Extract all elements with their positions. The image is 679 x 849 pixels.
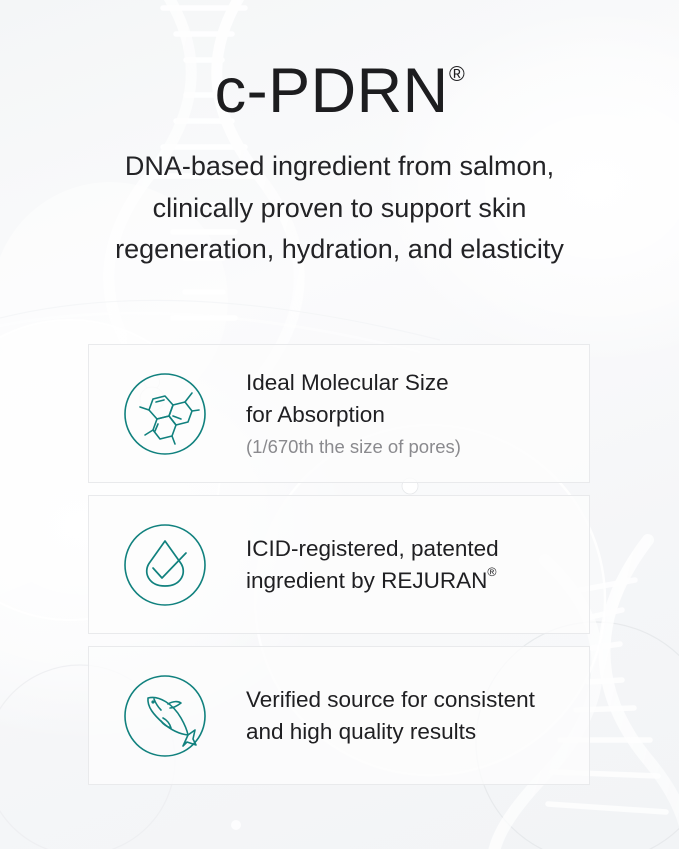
heading-line-2-text: ingredient by REJURAN: [246, 568, 487, 593]
feature-card-subtext: (1/670th the size of pores): [246, 435, 589, 460]
feature-card-list: Ideal Molecular Size for Absorption (1/6…: [88, 344, 590, 785]
feature-card-text: ICID-registered, patented ingredient by …: [246, 533, 589, 597]
registered-trademark-symbol: ®: [449, 62, 465, 86]
feature-card-heading: ICID-registered, patented ingredient by …: [246, 533, 589, 597]
page-subtitle: DNA-based ingredient from salmon, clinic…: [0, 124, 679, 271]
molecule-icon: [123, 372, 207, 456]
heading-line-2: and high quality results: [246, 716, 589, 748]
feature-card-heading: Verified source for consistent and high …: [246, 684, 589, 748]
subtitle-line-2: clinically proven to support skin: [0, 188, 679, 230]
fish-icon: [123, 674, 207, 758]
heading-line-1: Verified source for consistent: [246, 684, 589, 716]
heading-line-1: Ideal Molecular Size: [246, 367, 589, 399]
registered-trademark-symbol: ®: [487, 565, 496, 579]
heading-line-2: for Absorption: [246, 399, 589, 431]
heading-line-2: ingredient by REJURAN®: [246, 565, 589, 597]
subtitle-line-3: regeneration, hydration, and elasticity: [0, 229, 679, 271]
feature-card-text: Verified source for consistent and high …: [246, 684, 589, 748]
page-title: c-PDRN®: [0, 0, 679, 124]
feature-card-verified-source: Verified source for consistent and high …: [88, 646, 590, 785]
heading-line-1: ICID-registered, patented: [246, 533, 589, 565]
page-title-text: c-PDRN: [215, 56, 449, 126]
feature-card-heading: Ideal Molecular Size for Absorption: [246, 367, 589, 431]
subtitle-line-1: DNA-based ingredient from salmon,: [0, 146, 679, 188]
page-root: c-PDRN® DNA-based ingredient from salmon…: [0, 0, 679, 849]
feature-card-text: Ideal Molecular Size for Absorption (1/6…: [246, 367, 589, 461]
feature-card-molecular-size: Ideal Molecular Size for Absorption (1/6…: [88, 344, 590, 483]
droplet-check-icon: [123, 523, 207, 607]
header: c-PDRN® DNA-based ingredient from salmon…: [0, 0, 679, 271]
feature-card-icid-registered: ICID-registered, patented ingredient by …: [88, 495, 590, 634]
